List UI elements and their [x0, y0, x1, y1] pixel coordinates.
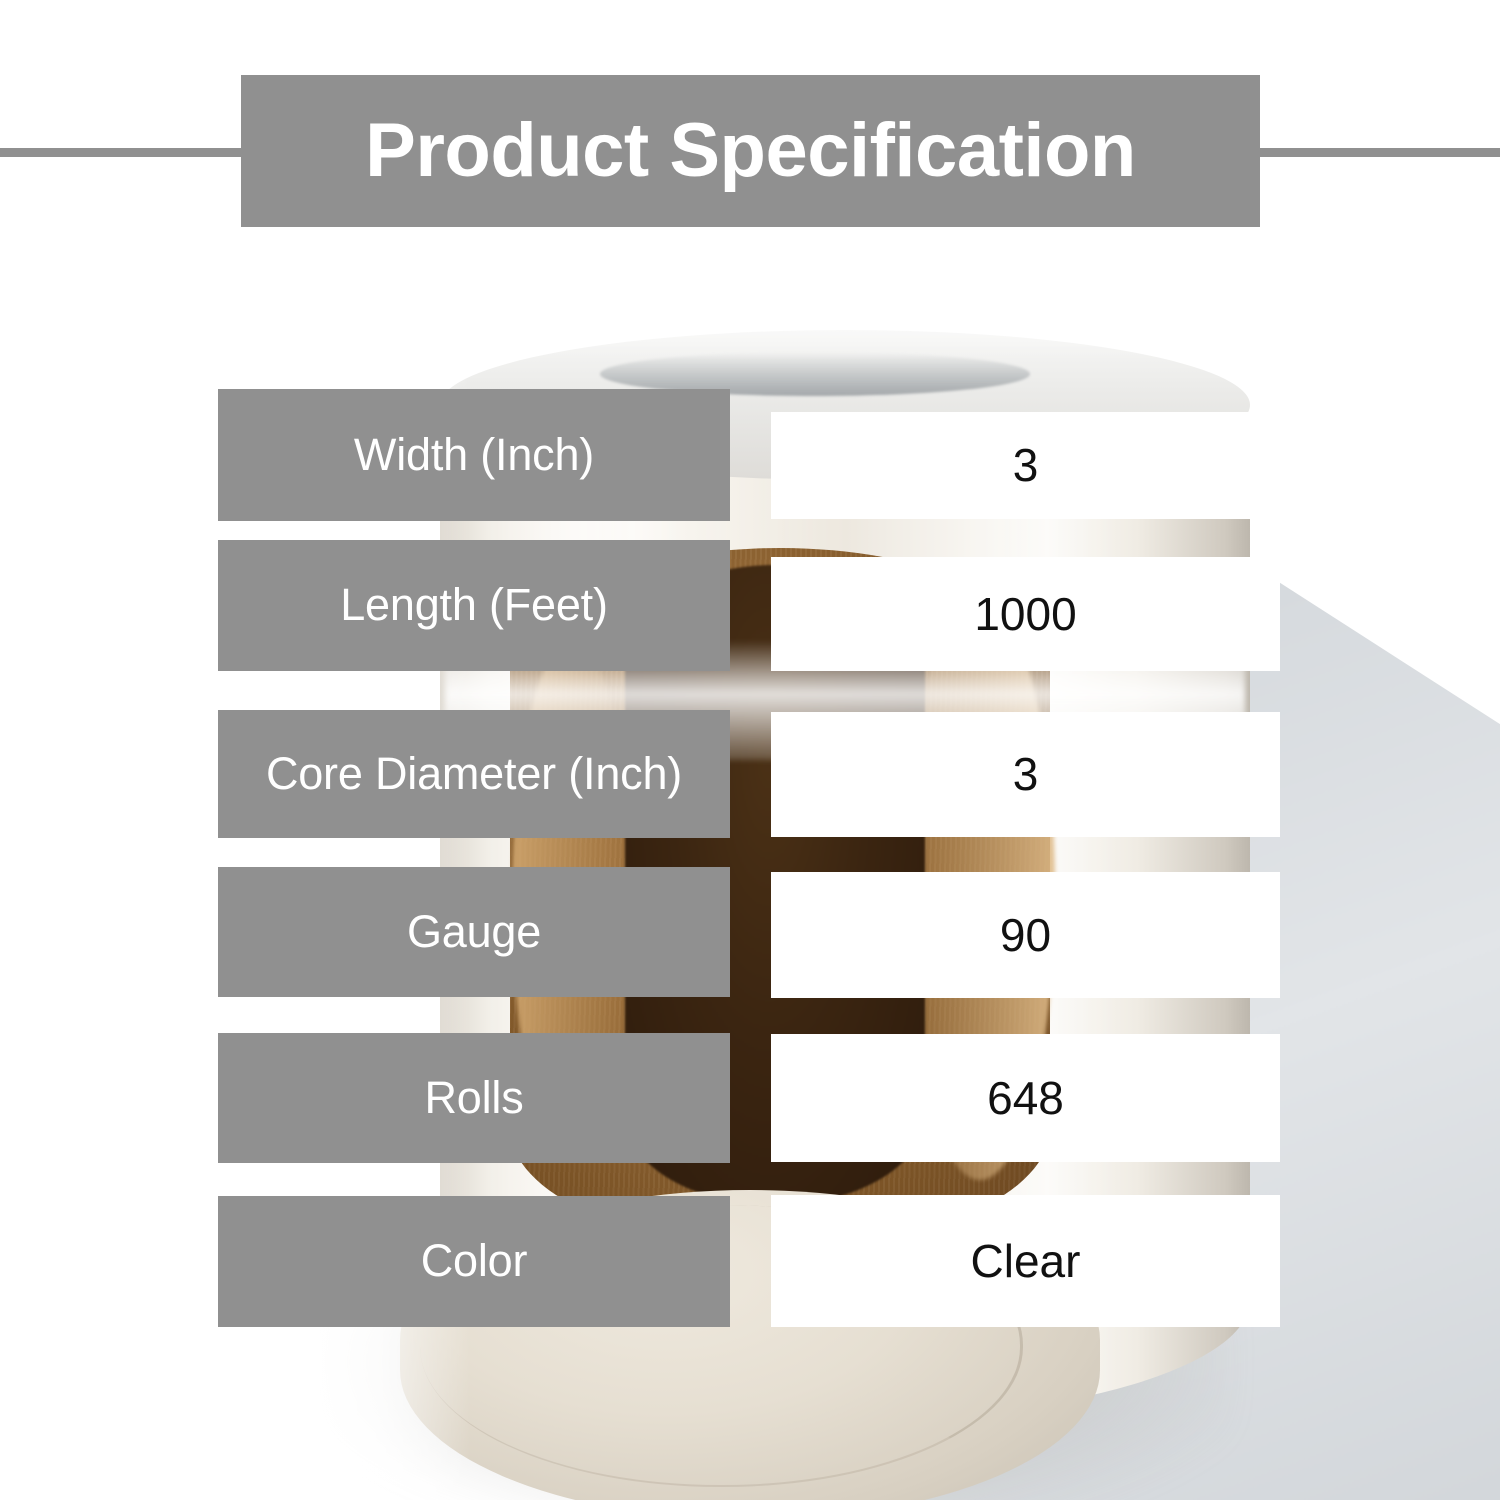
spec-value: Clear: [971, 1237, 1081, 1285]
spec-label-cell: Color: [218, 1196, 730, 1327]
spec-value-cell: 1000: [771, 557, 1280, 671]
spec-label-cell: Gauge: [218, 867, 730, 997]
header-banner: Product Specification: [241, 75, 1260, 227]
spec-value: 648: [987, 1074, 1064, 1122]
spec-label-cell: Length (Feet): [218, 540, 730, 671]
spec-label: Length (Feet): [340, 581, 608, 630]
spec-label-cell: Core Diameter (Inch): [218, 710, 730, 838]
spec-value-cell: 90: [771, 872, 1280, 998]
spec-label-cell: Rolls: [218, 1033, 730, 1163]
spec-label: Gauge: [407, 908, 541, 957]
spec-value-cell: Clear: [771, 1195, 1280, 1327]
spec-value: 90: [1000, 911, 1051, 959]
spec-value: 1000: [974, 590, 1076, 638]
spec-value: 3: [1013, 750, 1039, 798]
spec-label-cell: Width (Inch): [218, 389, 730, 521]
spec-value-cell: 3: [771, 412, 1280, 519]
spec-label: Rolls: [424, 1074, 523, 1123]
page-title: Product Specification: [365, 113, 1136, 189]
spec-value-cell: 3: [771, 712, 1280, 837]
spec-value: 3: [1013, 441, 1039, 489]
spec-label: Core Diameter (Inch): [266, 750, 682, 799]
spec-value-cell: 648: [771, 1034, 1280, 1162]
spec-label: Width (Inch): [354, 431, 594, 480]
spec-label: Color: [421, 1237, 528, 1286]
product-specification-infographic: Product Specification Width (Inch) 3 Len…: [0, 0, 1500, 1500]
